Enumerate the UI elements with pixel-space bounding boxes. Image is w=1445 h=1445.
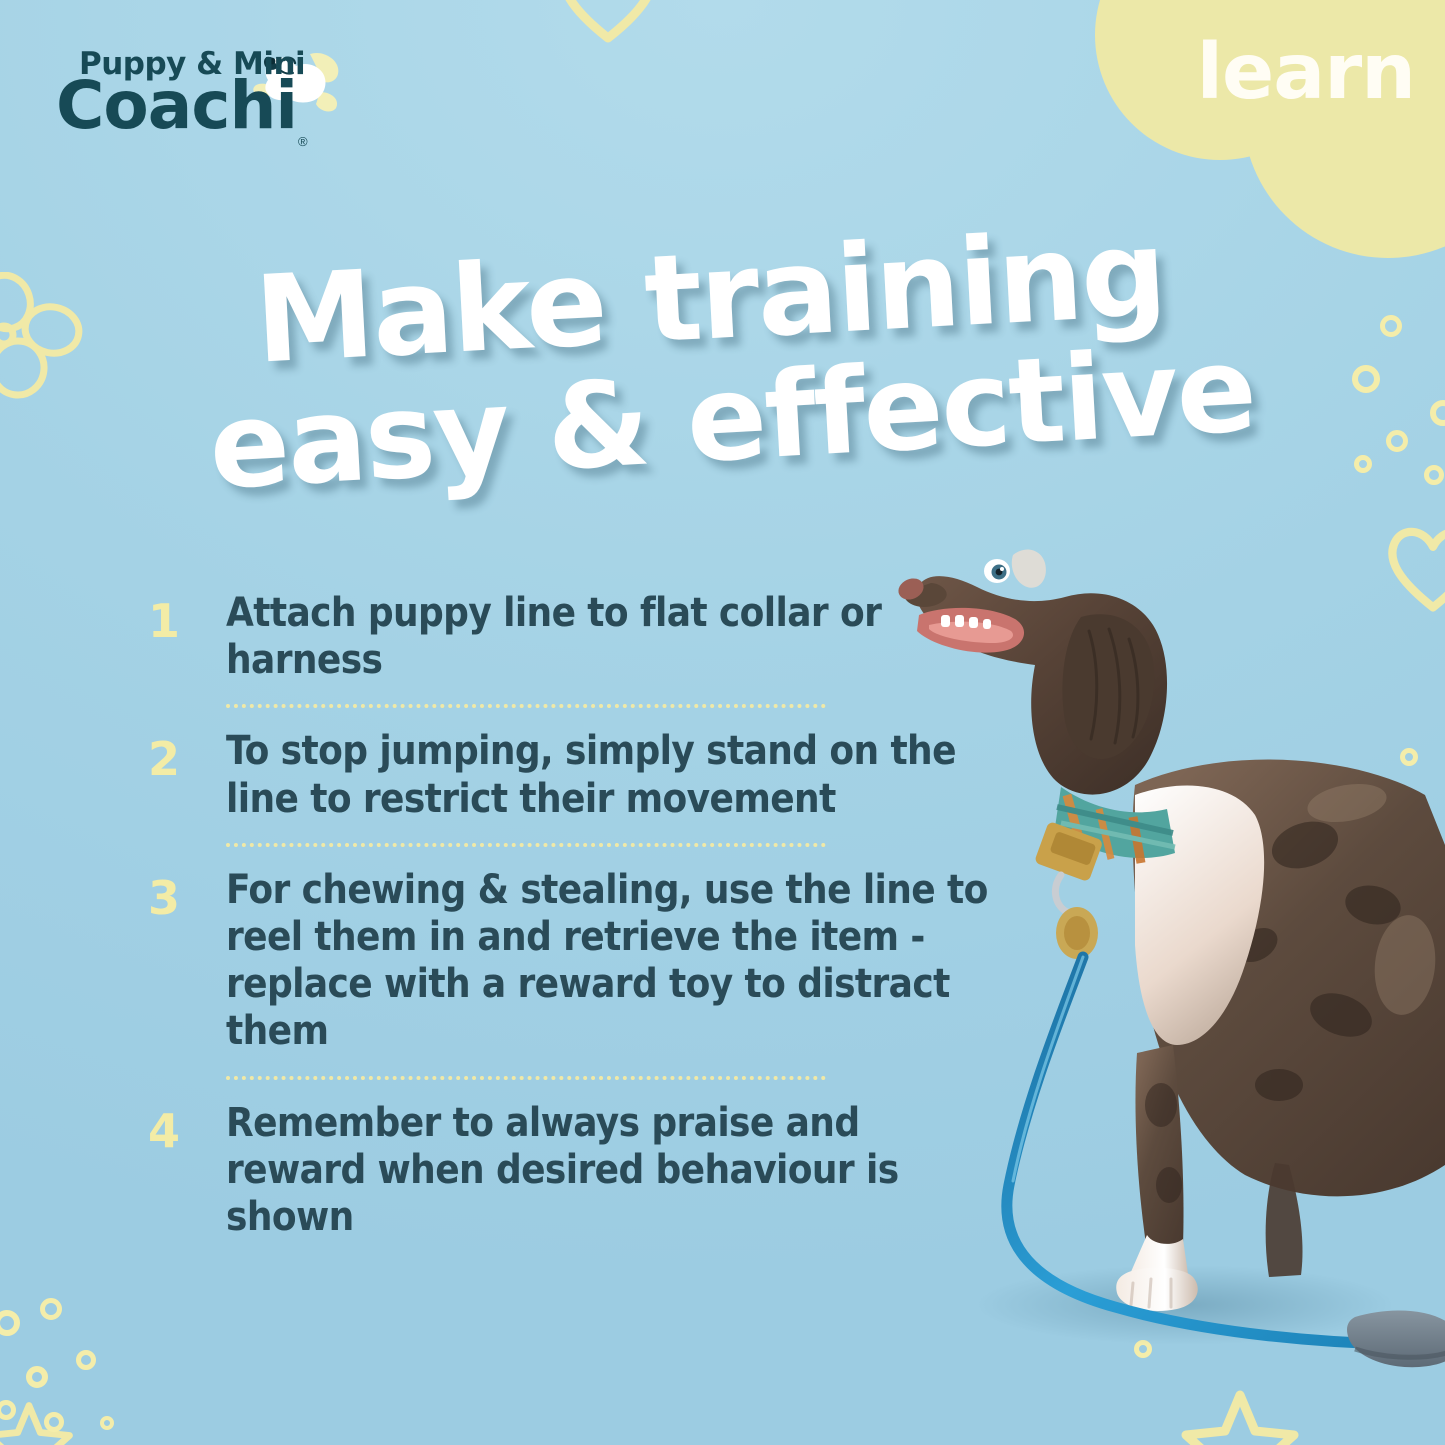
flower-outline-icon [0,272,92,402]
star-outline-icon [1180,1385,1300,1445]
step-number: 3 [148,867,226,921]
poster-canvas: learn Puppy & Mini Coachi ® Make trainin… [0,0,1445,1445]
circle-outline-icon [1400,748,1418,766]
circle-outline-icon [1430,400,1445,426]
list-item[interactable]: 2 To stop jumping, simply stand on the l… [148,728,988,822]
circle-outline-icon [1386,430,1408,452]
headline-line-1: Make training [148,209,1273,387]
step-number: 2 [148,728,226,782]
dotted-divider [226,704,826,708]
circle-outline-icon [26,1366,48,1388]
circle-outline-icon [76,1350,96,1370]
circle-outline-icon [1378,1052,1396,1070]
circle-outline-icon [1134,1340,1152,1358]
step-text: For chewing & stealing, use the line to … [226,867,988,1056]
step-number: 1 [148,590,226,644]
circle-outline-icon [0,1310,20,1336]
circle-outline-icon [40,1298,62,1320]
circle-outline-icon [1354,455,1372,473]
list-item[interactable]: 4 Remember to always praise and reward w… [148,1100,988,1242]
logo-main-line: Coachi [56,73,297,139]
circle-outline-icon [100,1416,114,1430]
step-number: 4 [148,1100,226,1154]
step-text: Attach puppy line to flat collar or harn… [226,590,988,684]
circle-outline-icon [44,1412,64,1432]
registered-mark: ® [298,134,308,149]
page-title: Make training easy & effective [150,238,1270,482]
steps-list: 1 Attach puppy line to flat collar or ha… [148,590,988,1241]
heart-outline-icon [1378,512,1445,622]
circle-outline-icon [1424,465,1444,485]
circle-outline-icon [1420,1130,1440,1150]
circle-outline-icon [1380,315,1402,337]
step-text: To stop jumping, simply stand on the lin… [226,728,988,822]
dotted-divider [226,843,826,847]
circle-outline-icon [0,1400,16,1420]
circle-outline-icon [1388,988,1408,1008]
circle-outline-icon [1352,365,1380,393]
learn-badge-label: learn [1197,28,1415,117]
list-item[interactable]: 3 For chewing & stealing, use the line t… [148,867,988,1056]
step-text: Remember to always praise and reward whe… [226,1100,988,1242]
dotted-divider [226,1076,826,1080]
brand-logo[interactable]: Puppy & Mini Coachi ® [56,46,346,156]
circle-outline-icon [1424,1020,1445,1042]
headline-line-2: easy & effective [169,326,1294,512]
circle-outline-icon [1396,818,1410,832]
heart-outline-icon [548,0,668,54]
circle-outline-icon [1150,1260,1166,1276]
list-item[interactable]: 1 Attach puppy line to flat collar or ha… [148,590,988,684]
